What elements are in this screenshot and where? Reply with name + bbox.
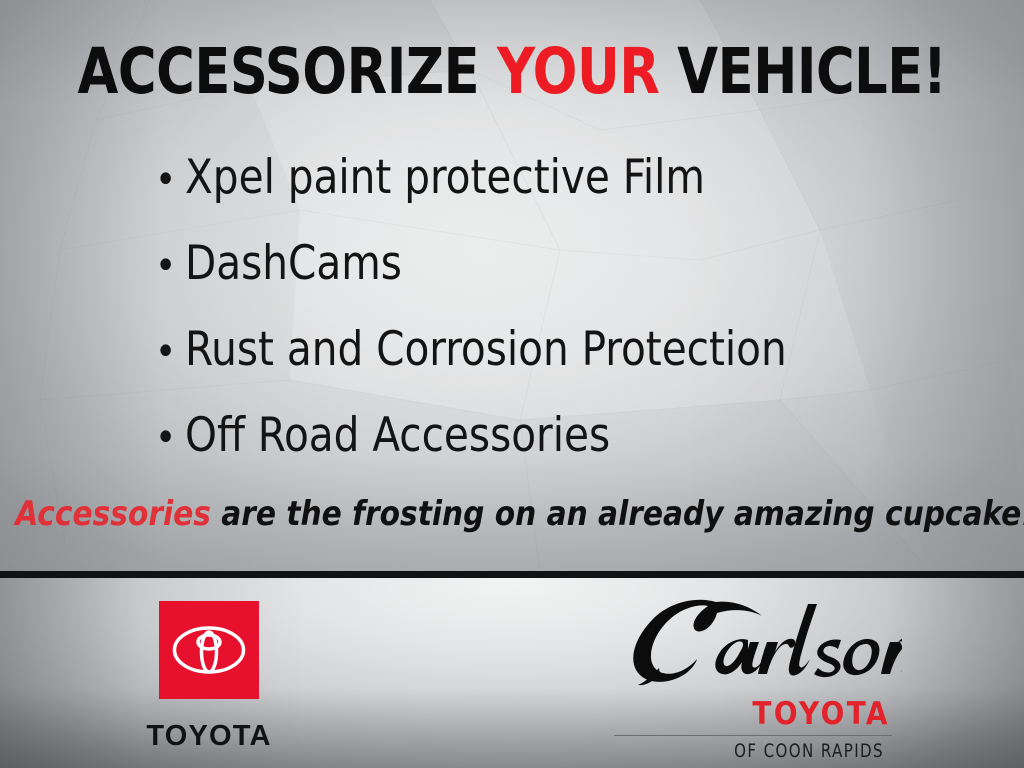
- toyota-emblem-icon: [172, 624, 246, 676]
- dealer-location-label: OF COON RAPIDS: [645, 740, 884, 762]
- bullet-point-icon: •: [155, 418, 185, 458]
- footer-panel: TOYOTA Carlson: [0, 578, 1024, 768]
- list-item: • Rust and Corrosion Protection: [155, 322, 955, 408]
- bullet-point-icon: •: [155, 332, 185, 372]
- list-item: • Off Road Accessories: [155, 408, 955, 494]
- carlson-script-wordmark: Carlson: [612, 596, 902, 688]
- dealer-logo-rule: [614, 735, 892, 736]
- bullet-point-icon: •: [155, 246, 185, 286]
- dealer-brand-label: TOYOTA: [612, 696, 890, 732]
- headline-highlight: YOUR: [497, 35, 659, 108]
- tagline-highlight: Accessories: [15, 494, 211, 534]
- list-item: • DashCams: [155, 236, 955, 322]
- headline: ACCESSORIZE YOUR VEHICLE!: [36, 40, 988, 103]
- list-item-label: Off Road Accessories: [185, 408, 610, 463]
- headline-part-2: VEHICLE!: [659, 35, 946, 108]
- toyota-logo-square: [159, 601, 259, 699]
- headline-part-1: ACCESSORIZE: [78, 35, 497, 108]
- tagline: Accessories are the frosting on an alrea…: [15, 494, 1008, 534]
- list-item-label: Rust and Corrosion Protection: [185, 322, 787, 377]
- list-item: • Xpel paint protective Film: [155, 150, 955, 236]
- tagline-rest: are the frosting on an already amazing c…: [211, 494, 1024, 534]
- promo-slide: ACCESSORIZE YOUR VEHICLE! • Xpel paint p…: [0, 0, 1024, 768]
- dealer-logo[interactable]: Carlson: [612, 596, 902, 761]
- toyota-logo[interactable]: TOYOTA: [159, 601, 273, 753]
- list-item-label: Xpel paint protective Film: [185, 150, 705, 205]
- bullet-point-icon: •: [155, 160, 185, 200]
- toyota-wordmark: TOYOTA: [145, 720, 273, 753]
- list-item-label: DashCams: [185, 236, 402, 291]
- section-divider: [0, 571, 1024, 578]
- feature-list: • Xpel paint protective Film • DashCams …: [155, 150, 955, 494]
- top-content-panel: ACCESSORIZE YOUR VEHICLE! • Xpel paint p…: [0, 0, 1024, 572]
